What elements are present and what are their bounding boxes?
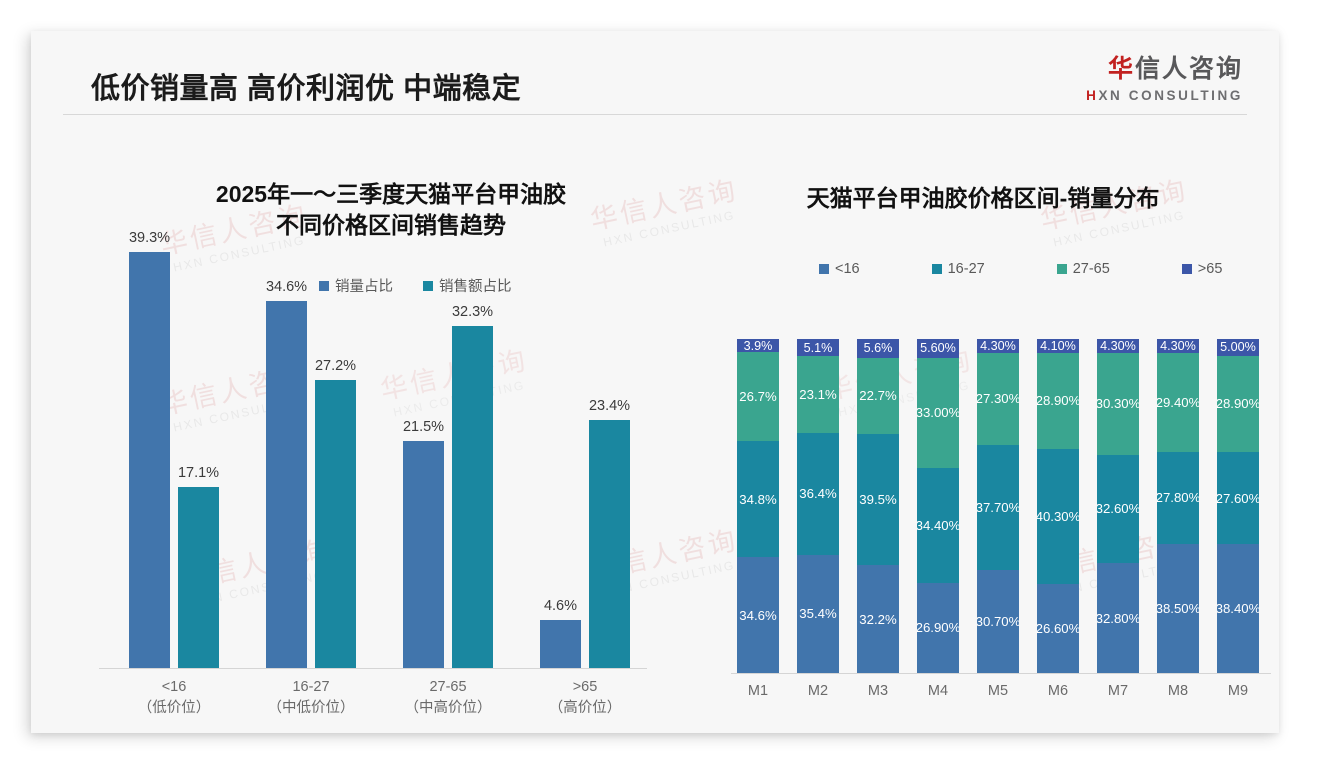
- segment-value-label: 22.7%: [859, 388, 896, 403]
- segment-value-label: 38.40%: [1217, 601, 1259, 616]
- right-chart-plot-area: 3.9%26.7%34.8%34.6%5.1%23.1%36.4%35.4%5.…: [731, 339, 1271, 673]
- stacked-bar-segment[interactable]: 32.60%: [1097, 455, 1139, 564]
- segment-value-label: 34.8%: [739, 492, 776, 507]
- stacked-bar-segment[interactable]: 3.9%: [737, 339, 779, 352]
- x-axis-tick-label: M3: [848, 683, 908, 699]
- stacked-bar-column[interactable]: 4.30%29.40%27.80%38.50%: [1157, 339, 1199, 673]
- x-axis-tick-label: M4: [908, 683, 968, 699]
- logo-english: HXN CONSULTING: [1086, 89, 1243, 103]
- stacked-bar-segment[interactable]: 37.70%: [977, 445, 1019, 571]
- left-chart-title: 2025年一～三季度天猫平台甲油胶 不同价格区间销售趋势: [91, 179, 691, 241]
- segment-value-label: 30.70%: [977, 614, 1019, 629]
- segment-value-label: 34.40%: [917, 518, 959, 533]
- segment-value-label: 3.9%: [744, 339, 773, 352]
- stacked-bar-segment[interactable]: 35.4%: [797, 555, 839, 673]
- stacked-bar-segment[interactable]: 28.90%: [1037, 353, 1079, 450]
- right-chart-title-line1: 天猫平台甲油胶价格区间-销量分布: [703, 183, 1263, 214]
- stacked-bar-column[interactable]: 3.9%26.7%34.8%34.6%: [737, 339, 779, 673]
- stacked-bar-segment[interactable]: 23.1%: [797, 356, 839, 433]
- segment-value-label: 26.7%: [739, 389, 776, 404]
- stacked-bar-segment[interactable]: 4.10%: [1037, 339, 1079, 353]
- stacked-bar-column[interactable]: 5.00%28.90%27.60%38.40%: [1217, 339, 1259, 673]
- legend-item-sales-amount-share[interactable]: 销售额占比: [423, 275, 512, 296]
- x-axis-tick-label: M1: [728, 683, 788, 699]
- segment-value-label: 27.60%: [1217, 491, 1259, 506]
- stacked-bar-segment[interactable]: 29.40%: [1157, 353, 1199, 451]
- segment-value-label: 5.60%: [920, 341, 956, 355]
- left-chart: [91, 161, 691, 721]
- x-axis-tick-label: M7: [1088, 683, 1148, 699]
- logo-en-rest: XN CONSULTING: [1098, 88, 1243, 103]
- stacked-bar-segment[interactable]: 32.80%: [1097, 563, 1139, 673]
- logo-chinese: 华信人咨询: [1086, 57, 1243, 82]
- right-chart-legend: <16 16-27 27-65 >65: [819, 261, 1222, 277]
- legend-swatch-green: [1057, 264, 1067, 274]
- x-axis-tick-label: M2: [788, 683, 848, 699]
- segment-value-label: 27.80%: [1157, 490, 1199, 505]
- logo-cn-rest: 信人咨询: [1135, 55, 1243, 83]
- segment-value-label: 32.80%: [1097, 611, 1139, 626]
- stacked-bar-segment[interactable]: 4.30%: [977, 339, 1019, 353]
- legend-swatch-teal: [932, 264, 942, 274]
- left-chart-legend: 销量占比 销售额占比: [319, 275, 512, 296]
- legend-label: 16-27: [948, 261, 985, 277]
- stacked-bar-segment[interactable]: 5.60%: [917, 339, 959, 358]
- stacked-bar-segment[interactable]: 26.7%: [737, 352, 779, 441]
- stacked-bar-column[interactable]: 4.30%27.30%37.70%30.70%: [977, 339, 1019, 673]
- legend-item-16-27[interactable]: 16-27: [932, 261, 985, 277]
- legend-item-sales-volume-share[interactable]: 销量占比: [319, 275, 393, 296]
- legend-swatch-teal: [423, 281, 433, 291]
- stacked-bar-segment[interactable]: 34.8%: [737, 441, 779, 557]
- segment-value-label: 4.10%: [1040, 339, 1076, 353]
- legend-item-gt65[interactable]: >65: [1182, 261, 1223, 277]
- logo-en-red: H: [1086, 88, 1098, 103]
- stacked-bar-segment[interactable]: 26.60%: [1037, 584, 1079, 673]
- stacked-bar-column[interactable]: 4.10%28.90%40.30%26.60%: [1037, 339, 1079, 673]
- segment-value-label: 33.00%: [917, 405, 959, 420]
- segment-value-label: 39.5%: [859, 492, 896, 507]
- legend-swatch-navy: [1182, 264, 1192, 274]
- stacked-bar-segment[interactable]: 32.2%: [857, 565, 899, 673]
- stacked-bar-segment[interactable]: 28.90%: [1217, 356, 1259, 453]
- x-axis-tick-label: M5: [968, 683, 1028, 699]
- stacked-bar-column[interactable]: 5.60%33.00%34.40%26.90%: [917, 339, 959, 673]
- stacked-bar-segment[interactable]: 30.70%: [977, 570, 1019, 673]
- legend-item-lt16[interactable]: <16: [819, 261, 860, 277]
- stacked-bar-segment[interactable]: 38.40%: [1217, 544, 1259, 672]
- stacked-bar-column[interactable]: 5.1%23.1%36.4%35.4%: [797, 339, 839, 673]
- stacked-bar-segment[interactable]: 33.00%: [917, 358, 959, 468]
- stacked-bar-segment[interactable]: 22.7%: [857, 358, 899, 434]
- slide-canvas: 华信人咨询 HXN CONSULTING 华信人咨询 HXN CONSULTIN…: [31, 31, 1279, 733]
- segment-value-label: 26.60%: [1037, 621, 1079, 636]
- left-chart-title-line2: 不同价格区间销售趋势: [91, 210, 691, 241]
- segment-value-label: 36.4%: [799, 486, 836, 501]
- stacked-bar-segment[interactable]: 36.4%: [797, 433, 839, 555]
- stacked-bar-segment[interactable]: 27.80%: [1157, 452, 1199, 545]
- legend-swatch-blue: [819, 264, 829, 274]
- logo-cn-red: 华: [1108, 55, 1135, 83]
- segment-value-label: 4.30%: [980, 339, 1016, 353]
- stacked-bar-segment[interactable]: 5.00%: [1217, 339, 1259, 356]
- legend-label: >65: [1198, 261, 1223, 277]
- slide-header: 低价销量高 高价利润优 中端稳定 华信人咨询 HXN CONSULTING: [31, 31, 1279, 115]
- stacked-bar-column[interactable]: 4.30%30.30%32.60%32.80%: [1097, 339, 1139, 673]
- legend-label: 销量占比: [335, 275, 393, 296]
- segment-value-label: 28.90%: [1037, 393, 1079, 408]
- legend-swatch-blue: [319, 281, 329, 291]
- legend-label: 27-65: [1073, 261, 1110, 277]
- segment-value-label: 35.4%: [799, 606, 836, 621]
- x-axis-tick-label: M9: [1208, 683, 1268, 699]
- stacked-bar-segment[interactable]: 5.6%: [857, 339, 899, 358]
- segment-value-label: 4.30%: [1100, 339, 1136, 353]
- segment-value-label: 32.2%: [859, 612, 896, 627]
- stacked-bar-segment[interactable]: 39.5%: [857, 434, 899, 566]
- segment-value-label: 5.1%: [804, 341, 833, 355]
- stacked-bar-segment[interactable]: 34.6%: [737, 557, 779, 673]
- stacked-bar-segment[interactable]: 4.30%: [1157, 339, 1199, 353]
- legend-label: 销售额占比: [439, 275, 512, 296]
- brand-logo: 华信人咨询 HXN CONSULTING: [1086, 57, 1243, 103]
- stacked-bar-segment[interactable]: 26.90%: [917, 583, 959, 673]
- stacked-bar-segment[interactable]: 5.1%: [797, 339, 839, 356]
- segment-value-label: 32.60%: [1097, 501, 1139, 516]
- segment-value-label: 29.40%: [1157, 395, 1199, 410]
- segment-value-label: 5.6%: [864, 341, 893, 355]
- stacked-bar-segment[interactable]: 4.30%: [1097, 339, 1139, 353]
- segment-value-label: 30.30%: [1097, 396, 1139, 411]
- segment-value-label: 40.30%: [1037, 509, 1079, 524]
- segment-value-label: 26.90%: [917, 620, 959, 635]
- stacked-bar-segment[interactable]: 27.30%: [977, 353, 1019, 444]
- segment-value-label: 4.30%: [1160, 339, 1196, 353]
- segment-value-label: 23.1%: [799, 387, 836, 402]
- legend-label: <16: [835, 261, 860, 277]
- segment-value-label: 27.30%: [977, 391, 1019, 406]
- stacked-bar-segment[interactable]: 34.40%: [917, 468, 959, 583]
- left-chart-title-line1: 2025年一～三季度天猫平台甲油胶: [91, 179, 691, 210]
- stacked-bar-segment[interactable]: 27.60%: [1217, 452, 1259, 544]
- stacked-bar-segment[interactable]: 30.30%: [1097, 353, 1139, 454]
- segment-value-label: 34.6%: [739, 608, 776, 623]
- segment-value-label: 37.70%: [977, 500, 1019, 515]
- stacked-bar-column[interactable]: 5.6%22.7%39.5%32.2%: [857, 339, 899, 673]
- stacked-bar-segment[interactable]: 40.30%: [1037, 449, 1079, 584]
- segment-value-label: 28.90%: [1217, 396, 1259, 411]
- right-chart-title: 天猫平台甲油胶价格区间-销量分布: [703, 183, 1263, 214]
- x-axis-tick-label: M6: [1028, 683, 1088, 699]
- x-axis-tick-label: M8: [1148, 683, 1208, 699]
- page-title: 低价销量高 高价利润优 中端稳定: [91, 65, 521, 107]
- right-chart-x-axis: [731, 673, 1271, 674]
- segment-value-label: 5.00%: [1220, 340, 1256, 354]
- segment-value-label: 38.50%: [1157, 601, 1199, 616]
- legend-item-27-65[interactable]: 27-65: [1057, 261, 1110, 277]
- stacked-bar-segment[interactable]: 38.50%: [1157, 544, 1199, 673]
